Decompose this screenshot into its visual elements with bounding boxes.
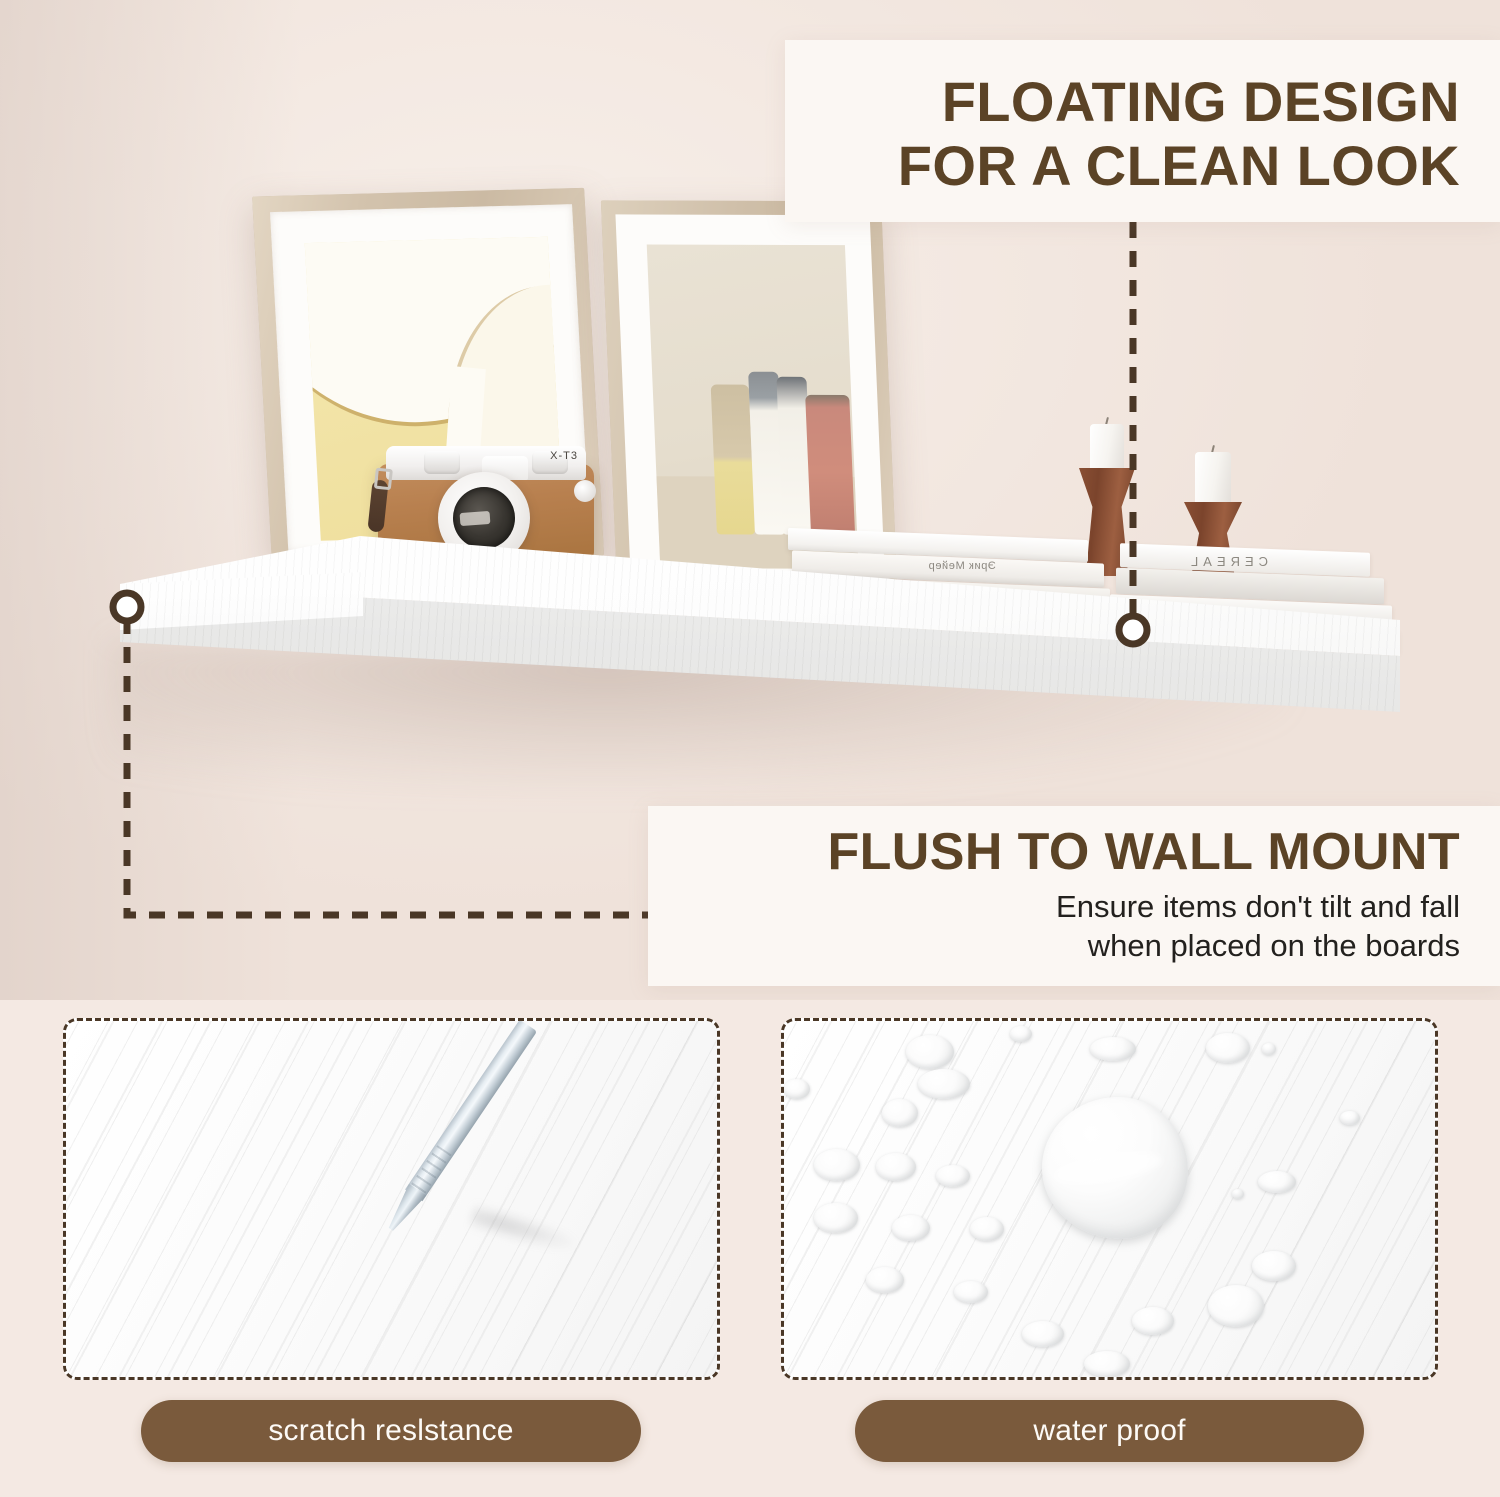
- water-droplet: [1340, 1111, 1360, 1125]
- water-droplet: [892, 1215, 930, 1241]
- water-droplet: [936, 1165, 970, 1187]
- water-droplet: [1208, 1285, 1264, 1327]
- callout-subtitle-line-1: Ensure items don't tilt and fall: [648, 887, 1460, 926]
- water-droplet: [1232, 1189, 1244, 1199]
- water-droplet: [954, 1281, 988, 1303]
- water-droplet: [1262, 1043, 1276, 1055]
- leader-line-flush-mount: [127, 618, 650, 915]
- water-droplet: [918, 1069, 970, 1099]
- callout-marker-right: [1119, 616, 1147, 644]
- callout-marker-left: [113, 593, 141, 621]
- callout-title-line-1: FLOATING DESIGN: [785, 70, 1460, 134]
- water-droplet: [866, 1267, 904, 1293]
- water-droplet: [1132, 1307, 1174, 1335]
- feature-label-scratch[interactable]: scratch reslstance: [141, 1400, 641, 1462]
- hero-scene: X-T3 Эрик Мейер ИСКУССТВО СТРАТЕГИИ: [0, 0, 1500, 1000]
- feature-label-water[interactable]: water proof: [855, 1400, 1364, 1462]
- waterproof-test-image: [781, 1018, 1438, 1380]
- water-droplet: [1084, 1351, 1130, 1377]
- water-droplet: [1010, 1026, 1032, 1042]
- water-droplet-large: [1042, 1097, 1188, 1239]
- water-droplet: [1090, 1037, 1136, 1061]
- feature-panel-scratch: [63, 1018, 720, 1380]
- callout-subtitle-line-2: when placed on the boards: [648, 926, 1460, 965]
- water-droplet: [882, 1099, 918, 1127]
- lens-glint: [460, 511, 491, 526]
- scratch-test-image: [63, 1018, 720, 1380]
- water-droplet: [1206, 1033, 1250, 1063]
- water-droplet: [784, 1079, 810, 1099]
- water-droplet: [906, 1035, 954, 1069]
- callout-title-line-2: FOR A CLEAN LOOK: [785, 134, 1460, 198]
- screwdriver-tip: [382, 1184, 426, 1236]
- callout-title-line-1: FLUSH TO WALL MOUNT: [648, 824, 1460, 881]
- water-droplet: [1252, 1251, 1296, 1281]
- water-droplet: [814, 1149, 860, 1181]
- feature-panel-water: [781, 1018, 1438, 1380]
- water-droplet: [876, 1153, 916, 1181]
- product-infographic: X-T3 Эрик Мейер ИСКУССТВО СТРАТЕГИИ: [0, 0, 1500, 1497]
- water-droplet: [814, 1203, 858, 1233]
- callout-card-floating-design: FLOATING DESIGN FOR A CLEAN LOOK: [785, 40, 1500, 222]
- water-droplet: [1022, 1321, 1064, 1347]
- callout-card-flush-mount: FLUSH TO WALL MOUNT Ensure items don't t…: [648, 806, 1500, 986]
- water-droplet: [970, 1217, 1004, 1241]
- water-droplet: [1258, 1171, 1296, 1193]
